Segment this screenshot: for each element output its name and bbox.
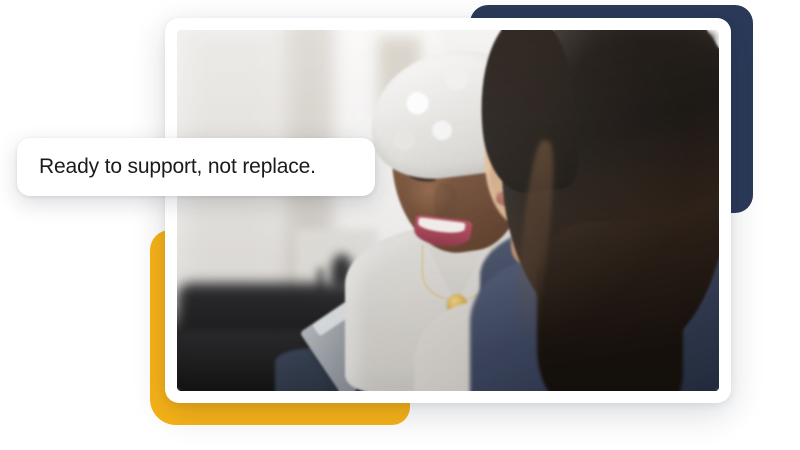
photo-subject-younger-woman — [470, 30, 719, 391]
quote-card: Ready to support, not replace. — [17, 138, 375, 196]
younger-woman-hair-length — [537, 221, 683, 391]
photo-frame — [177, 30, 719, 391]
older-woman-nose — [434, 183, 456, 221]
quote-text: Ready to support, not replace. — [39, 155, 316, 179]
photo-card — [165, 18, 731, 403]
page-root: Ready to support, not replace. — [0, 0, 800, 450]
photograph — [177, 30, 719, 391]
